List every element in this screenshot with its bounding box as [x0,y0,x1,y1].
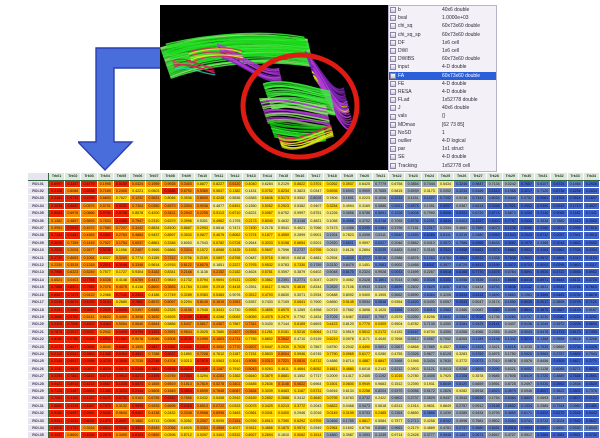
table-cell[interactable]: 0.4915 [583,232,599,239]
table-cell[interactable]: 0.3412 [292,395,308,402]
workspace-variable-row[interactable]: NoSD1 [389,129,496,137]
table-cell[interactable]: 0.8600 [65,432,81,438]
table-cell[interactable]: 0.6939 [405,188,421,195]
table-cell[interactable]: 0.7779 [373,180,389,187]
table-cell[interactable]: 0.0641 [292,299,308,306]
table-cell[interactable]: 0.0466 [324,417,340,424]
table-cell[interactable]: 0.4764 [551,195,567,202]
table-cell[interactable]: 0.7592 [81,284,97,291]
table-cell[interactable]: 0.5844 [146,321,162,328]
table-cell[interactable]: 0.4363 [81,232,97,239]
table-cell[interactable]: 0.9281 [49,306,65,313]
table-cell[interactable]: 0.9136 [518,321,534,328]
table-row[interactable]: ROI-170.00350.56700.42390.01540.26890.78… [28,299,600,306]
table-cell[interactable]: 0.8004 [275,350,291,357]
row-header[interactable]: ROI-19 [28,313,49,320]
table-cell[interactable]: 0.0414 [486,276,502,283]
table-cell[interactable]: 0.8064 [308,328,324,335]
table-cell[interactable]: 0.9793 [567,299,583,306]
table-cell[interactable]: 0.3217 [518,188,534,195]
table-cell[interactable]: 0.4958 [308,306,324,313]
table-cell[interactable]: 0.8809 [518,395,534,402]
table-cell[interactable]: 0.7941 [567,232,583,239]
table-cell[interactable]: 0.8040 [97,343,113,350]
table-cell[interactable]: 0.0432 [194,395,210,402]
table-cell[interactable]: 0.6917 [65,358,81,365]
table-cell[interactable]: 0.1226 [324,210,340,217]
table-cell[interactable]: 0.7770 [356,321,372,328]
table-cell[interactable]: 0.0946 [518,387,534,394]
table-cell[interactable]: 0.2151 [227,417,243,424]
table-cell[interactable]: 0.5485 [243,380,259,387]
table-cell[interactable]: 0.7806 [324,195,340,202]
table-cell[interactable]: 0.3772 [292,402,308,409]
table-cell[interactable]: 0.3772 [454,358,470,365]
workspace-variable-row[interactable]: DWIBS60x73x60 double [389,55,496,63]
table-cell[interactable]: 0.7587 [227,321,243,328]
workspace-variable-row[interactable]: FE4-D double [389,80,496,88]
column-header[interactable]: Trk04 [97,173,113,180]
table-cell[interactable]: 0.1269 [292,306,308,313]
table-cell[interactable]: 0.5052 [259,202,275,209]
table-cell[interactable]: 0.5827 [567,358,583,365]
table-cell[interactable]: 0.9167 [583,306,599,313]
table-cell[interactable]: 0.0877 [194,232,210,239]
table-cell[interactable]: 0.2317 [421,225,437,232]
table-cell[interactable]: 0.2054 [502,417,518,424]
table-cell[interactable]: 0.5308 [162,336,178,343]
table-cell[interactable]: 0.4563 [454,254,470,261]
table-cell[interactable]: 0.9078 [227,291,243,298]
table-cell[interactable]: 0.9400 [356,291,372,298]
table-cell[interactable]: 0.5893 [470,365,486,372]
table-cell[interactable]: 0.1851 [211,262,227,269]
table-cell[interactable]: 0.3504 [178,387,194,394]
table-cell[interactable]: 0.2946 [292,410,308,417]
table-cell[interactable]: 0.7144 [275,321,291,328]
table-cell[interactable]: 0.5329 [373,284,389,291]
table-cell[interactable]: 0.1882 [130,417,146,424]
table-cell[interactable]: 0.1138 [535,365,551,372]
table-cell[interactable]: 0.9437 [146,232,162,239]
table-cell[interactable]: 0.1759 [308,262,324,269]
table-cell[interactable]: 0.4855 [259,306,275,313]
table-cell[interactable]: 0.2915 [211,284,227,291]
table-cell[interactable]: 0.2942 [97,328,113,335]
table-cell[interactable]: 0.0403 [65,276,81,283]
table-cell[interactable]: 0.3230 [535,313,551,320]
table-cell[interactable]: 0.0856 [340,210,356,217]
table-cell[interactable]: 0.2141 [486,321,502,328]
table-cell[interactable]: 0.5434 [437,180,453,187]
table-cell[interactable]: 0.2432 [162,410,178,417]
table-cell[interactable]: 0.0943 [65,225,81,232]
table-cell[interactable]: 0.2899 [292,232,308,239]
table-cell[interactable]: 0.7330 [292,262,308,269]
table-cell[interactable]: 0.5048 [324,269,340,276]
table-cell[interactable]: 0.2016 [308,410,324,417]
table-cell[interactable]: 0.4418 [227,284,243,291]
table-cell[interactable]: 0.0151 [275,328,291,335]
table-cell[interactable]: 0.1959 [146,180,162,187]
table-cell[interactable]: 0.4819 [292,284,308,291]
table-cell[interactable]: 0.5536 [227,195,243,202]
table-cell[interactable]: 0.2879 [324,276,340,283]
table-cell[interactable]: 0.7376 [583,387,599,394]
table-cell[interactable]: 0.4040 [243,180,259,187]
table-cell[interactable]: 0.9519 [162,380,178,387]
table-cell[interactable]: 0.1692 [340,425,356,432]
table-cell[interactable]: 0.0481 [65,232,81,239]
table-cell[interactable]: 0.3394 [178,202,194,209]
table-cell[interactable]: 0.9697 [259,247,275,254]
table-cell[interactable]: 0.0213 [275,402,291,409]
table-cell[interactable]: 0.0225 [567,313,583,320]
table-cell[interactable]: 0.5141 [81,313,97,320]
table-cell[interactable]: 0.9407 [308,202,324,209]
table-cell[interactable]: 0.8750 [324,343,340,350]
workspace-variable-row[interactable]: TractFA1x52778 cell [389,170,496,172]
table-cell[interactable]: 0.6347 [421,262,437,269]
table-cell[interactable]: 0.1550 [243,202,259,209]
table-cell[interactable]: 0.5369 [194,188,210,195]
table-cell[interactable]: 0.5309 [551,358,567,365]
table-cell[interactable]: 0.2486 [454,306,470,313]
table-cell[interactable]: 0.9288 [454,365,470,372]
table-cell[interactable]: 0.3169 [356,202,372,209]
table-cell[interactable]: 0.8371 [130,373,146,380]
table-cell[interactable]: 0.7875 [49,328,65,335]
table-cell[interactable]: 0.4393 [405,232,421,239]
table-cell[interactable]: 0.4420 [405,299,421,306]
table-cell[interactable]: 0.1187 [292,387,308,394]
table-cell[interactable]: 0.8687 [178,225,194,232]
table-cell[interactable]: 0.5935 [324,188,340,195]
row-header[interactable]: ROI-13 [28,269,49,276]
results-spreadsheet[interactable]: Trk01Trk02Trk03Trk04Trk05Trk06Trk07Trk08… [28,173,600,438]
table-cell[interactable]: 0.7680 [211,328,227,335]
table-cell[interactable]: 0.1514 [308,432,324,438]
table-cell[interactable]: 0.7288 [146,350,162,357]
table-cell[interactable]: 0.5963 [535,350,551,357]
table-cell[interactable]: 0.5779 [81,180,97,187]
table-cell[interactable]: 0.7816 [583,225,599,232]
workspace-variable-row[interactable]: MDmax[62 73 85] [389,121,496,129]
table-cell[interactable]: 0.8063 [49,210,65,217]
table-cell[interactable]: 0.4513 [470,262,486,269]
table-cell[interactable]: 0.2918 [502,425,518,432]
table-cell[interactable]: 0.8539 [97,365,113,372]
table-cell[interactable]: 0.3998 [81,358,97,365]
table-cell[interactable]: 0.7927 [97,239,113,246]
table-cell[interactable]: 0.8035 [518,299,534,306]
table-cell[interactable]: 0.1221 [146,328,162,335]
column-header[interactable]: Trk07 [146,173,162,180]
table-cell[interactable]: 0.3338 [178,410,194,417]
table-cell[interactable]: 0.5098 [502,306,518,313]
table-cell[interactable]: 0.9330 [535,380,551,387]
table-cell[interactable]: 0.2152 [211,269,227,276]
table-cell[interactable]: 0.1877 [259,232,275,239]
table-cell[interactable]: 0.4877 [211,202,227,209]
table-cell[interactable]: 0.1995 [97,180,113,187]
table-cell[interactable]: 0.5212 [389,365,405,372]
table-cell[interactable]: 0.5158 [275,239,291,246]
table-cell[interactable]: 0.4568 [211,425,227,432]
table-cell[interactable]: 0.9225 [97,395,113,402]
table-cell[interactable]: 0.2988 [389,254,405,261]
table-cell[interactable]: 0.6227 [373,239,389,246]
table-cell[interactable]: 0.9001 [308,232,324,239]
table-cell[interactable]: 0.4863 [567,239,583,246]
table-cell[interactable]: 0.1849 [162,387,178,394]
table-cell[interactable]: 0.2839 [324,284,340,291]
row-header[interactable]: ROI-14 [28,276,49,283]
table-cell[interactable]: 0.0262 [324,180,340,187]
table-cell[interactable]: 0.6321 [502,365,518,372]
table-cell[interactable]: 0.6018 [356,365,372,372]
table-cell[interactable]: 0.7990 [421,210,437,217]
table-cell[interactable]: 0.7986 [454,239,470,246]
table-cell[interactable]: 0.3041 [227,358,243,365]
row-header[interactable]: ROI-25 [28,358,49,365]
table-cell[interactable]: 0.2771 [292,276,308,283]
table-cell[interactable]: 0.2551 [243,284,259,291]
table-cell[interactable]: 0.1148 [275,380,291,387]
table-cell[interactable]: 0.6759 [162,373,178,380]
table-cell[interactable]: 0.7064 [178,373,194,380]
table-cell[interactable]: 0.8349 [146,425,162,432]
table-cell[interactable]: 0.7612 [211,350,227,357]
table-cell[interactable]: 0.6126 [340,247,356,254]
table-row[interactable]: ROI-260.12420.95260.05270.85390.65750.03… [28,365,600,372]
table-cell[interactable]: 0.5296 [421,313,437,320]
table-cell[interactable]: 0.5733 [535,417,551,424]
table-cell[interactable]: 0.7692 [567,417,583,424]
table-cell[interactable]: 0.7882 [130,299,146,306]
row-header[interactable]: ROI-09 [28,239,49,246]
table-cell[interactable]: 0.0732 [583,432,599,438]
row-header[interactable]: ROI-21 [28,328,49,335]
table-cell[interactable]: 0.7359 [65,239,81,246]
table-cell[interactable]: 0.5246 [97,247,113,254]
table-cell[interactable]: 0.9464 [454,343,470,350]
table-cell[interactable]: 0.4611 [275,365,291,372]
table-cell[interactable]: 0.6792 [178,188,194,195]
table-cell[interactable]: 0.8729 [454,262,470,269]
table-cell[interactable]: 0.0671 [470,432,486,438]
table-cell[interactable]: 0.3025 [194,328,210,335]
table-cell[interactable]: 0.8168 [454,269,470,276]
table-cell[interactable]: 0.8312 [470,254,486,261]
table-cell[interactable]: 0.0326 [405,350,421,357]
table-cell[interactable]: 0.6103 [130,432,146,438]
table-cell[interactable]: 0.8600 [146,284,162,291]
table-row[interactable]: ROI-080.72830.04810.43630.05620.27630.48… [28,232,600,239]
table-cell[interactable]: 0.8046 [162,195,178,202]
table-cell[interactable]: 0.2479 [275,313,291,320]
table-cell[interactable]: 0.8483 [275,387,291,394]
table-cell[interactable]: 0.9912 [470,402,486,409]
table-cell[interactable]: 0.6752 [275,210,291,217]
table-cell[interactable]: 0.4040 [373,336,389,343]
table-cell[interactable]: 0.3457 [65,180,81,187]
table-cell[interactable]: 0.0333 [227,402,243,409]
table-cell[interactable]: 0.7925 [437,373,453,380]
table-cell[interactable]: 0.9825 [275,284,291,291]
row-header[interactable]: ROI-04 [28,202,49,209]
table-cell[interactable]: 0.2064 [454,313,470,320]
table-cell[interactable]: 0.4388 [340,225,356,232]
table-cell[interactable]: 0.2159 [194,254,210,261]
table-cell[interactable]: 0.2017 [535,299,551,306]
table-cell[interactable]: 0.7945 [194,306,210,313]
table-cell[interactable]: 0.4257 [470,217,486,224]
table-cell[interactable]: 0.9078 [130,336,146,343]
table-cell[interactable]: 0.5584 [373,417,389,424]
table-cell[interactable]: 0.5082 [292,432,308,438]
table-cell[interactable]: 0.9644 [113,410,129,417]
table-cell[interactable]: 0.9954 [49,225,65,232]
table-cell[interactable]: 0.7026 [324,313,340,320]
table-cell[interactable]: 0.7221 [275,358,291,365]
table-cell[interactable]: 0.9242 [551,202,567,209]
table-cell[interactable]: 0.1619 [211,299,227,306]
table-cell[interactable]: 0.0795 [324,395,340,402]
table-cell[interactable]: 0.7867 [308,343,324,350]
table-cell[interactable]: 0.6745 [308,350,324,357]
table-cell[interactable]: 0.7018 [470,313,486,320]
table-cell[interactable]: 0.6997 [49,180,65,187]
table-cell[interactable]: 0.0583 [437,306,453,313]
table-cell[interactable]: 0.9928 [162,180,178,187]
spreadsheet-body[interactable]: ROI-010.69970.34570.57790.19950.01500.03… [28,180,600,438]
table-cell[interactable]: 0.8149 [194,299,210,306]
table-cell[interactable]: 0.5938 [81,188,97,195]
column-header[interactable]: Trk23 [405,173,421,180]
table-cell[interactable]: 0.0562 [97,232,113,239]
table-cell[interactable]: 0.0250 [405,313,421,320]
table-cell[interactable]: 0.4490 [356,343,372,350]
table-cell[interactable]: 0.5911 [389,202,405,209]
table-cell[interactable]: 0.6524 [49,276,65,283]
table-cell[interactable]: 0.7657 [518,180,534,187]
table-cell[interactable]: 0.9999 [130,402,146,409]
table-cell[interactable]: 0.4886 [324,358,340,365]
column-header[interactable]: Trk26 [454,173,470,180]
table-cell[interactable]: 0.2934 [308,291,324,298]
table-cell[interactable]: 0.6122 [178,262,194,269]
table-cell[interactable]: 0.8804 [81,387,97,394]
column-header[interactable]: Trk03 [81,173,97,180]
table-cell[interactable]: 0.5201 [308,239,324,246]
table-cell[interactable]: 0.8088 [518,225,534,232]
table-cell[interactable]: 0.4884 [130,232,146,239]
table-cell[interactable]: 0.2689 [113,299,129,306]
table-cell[interactable]: 0.8092 [340,291,356,298]
table-cell[interactable]: 0.7921 [502,202,518,209]
table-cell[interactable]: 0.9597 [356,239,372,246]
row-header[interactable]: ROI-24 [28,350,49,357]
table-cell[interactable]: 0.6693 [308,321,324,328]
table-cell[interactable]: 0.1261 [259,328,275,335]
table-cell[interactable]: 0.2227 [227,262,243,269]
table-cell[interactable]: 0.3421 [162,210,178,217]
table-cell[interactable]: 0.4664 [292,365,308,372]
table-cell[interactable]: 0.2737 [292,247,308,254]
table-cell[interactable]: 0.4720 [97,358,113,365]
table-cell[interactable]: 0.0794 [194,276,210,283]
workspace-variable-row[interactable]: input4-D double [389,63,496,71]
table-cell[interactable]: 0.0485 [81,343,97,350]
table-cell[interactable]: 0.7582 [340,306,356,313]
table-cell[interactable]: 0.7675 [194,358,210,365]
table-cell[interactable]: 0.3269 [113,254,129,261]
table-cell[interactable]: 0.5540 [130,321,146,328]
table-cell[interactable]: 0.1385 [97,350,113,357]
table-cell[interactable]: 0.5054 [113,321,129,328]
table-cell[interactable]: 0.1337 [81,395,97,402]
table-cell[interactable]: 0.3246 [454,180,470,187]
table-cell[interactable]: 0.1963 [113,336,129,343]
column-header[interactable]: Trk29 [502,173,518,180]
table-cell[interactable]: 0.4522 [81,321,97,328]
table-cell[interactable]: 0.5637 [211,188,227,195]
table-row[interactable]: ROI-070.99540.09430.45720.79800.72070.34… [28,225,600,232]
table-cell[interactable]: 0.4889 [551,373,567,380]
table-cell[interactable]: 0.4066 [470,328,486,335]
table-cell[interactable]: 0.7980 [97,225,113,232]
table-cell[interactable]: 0.5270 [551,410,567,417]
workspace-variable-row[interactable]: b40x6 double [389,6,496,14]
table-row[interactable]: ROI-350.32570.86000.10340.26780.34900.61… [28,432,600,438]
table-cell[interactable]: 0.1273 [49,343,65,350]
table-cell[interactable]: 0.2923 [275,202,291,209]
table-cell[interactable]: 0.3130 [324,262,340,269]
table-cell[interactable]: 0.7848 [211,387,227,394]
row-header[interactable]: ROI-07 [28,225,49,232]
table-cell[interactable]: 0.6724 [551,180,567,187]
row-header[interactable]: ROI-02 [28,188,49,195]
table-cell[interactable]: 0.0350 [146,202,162,209]
table-cell[interactable]: 0.6916 [324,387,340,394]
table-cell[interactable]: 0.2391 [275,276,291,283]
table-cell[interactable]: 0.0780 [65,336,81,343]
table-cell[interactable]: 0.5658 [502,276,518,283]
table-cell[interactable]: 0.3165 [421,247,437,254]
table-cell[interactable]: 0.5484 [211,291,227,298]
row-header[interactable]: ROI-15 [28,284,49,291]
table-cell[interactable]: 0.9827 [146,343,162,350]
table-cell[interactable]: 0.4464 [97,321,113,328]
table-cell[interactable]: 0.7109 [275,299,291,306]
table-cell[interactable]: 0.2182 [227,269,243,276]
table-cell[interactable]: 0.3401 [227,380,243,387]
table-cell[interactable]: 0.6169 [292,321,308,328]
table-cell[interactable]: 0.4258 [421,417,437,424]
table-cell[interactable]: 0.7900 [308,299,324,306]
table-cell[interactable]: 0.8861 [146,239,162,246]
table-cell[interactable]: 0.4520 [583,380,599,387]
table-cell[interactable]: 0.3769 [470,350,486,357]
table-cell[interactable]: 0.0033 [389,269,405,276]
table-cell[interactable]: 0.4632 [275,217,291,224]
table-cell[interactable]: 0.0154 [97,299,113,306]
table-cell[interactable]: 0.2126 [49,188,65,195]
table-cell[interactable]: 0.0341 [65,350,81,357]
table-cell[interactable]: 0.8824 [583,365,599,372]
table-cell[interactable]: 0.0567 [97,380,113,387]
